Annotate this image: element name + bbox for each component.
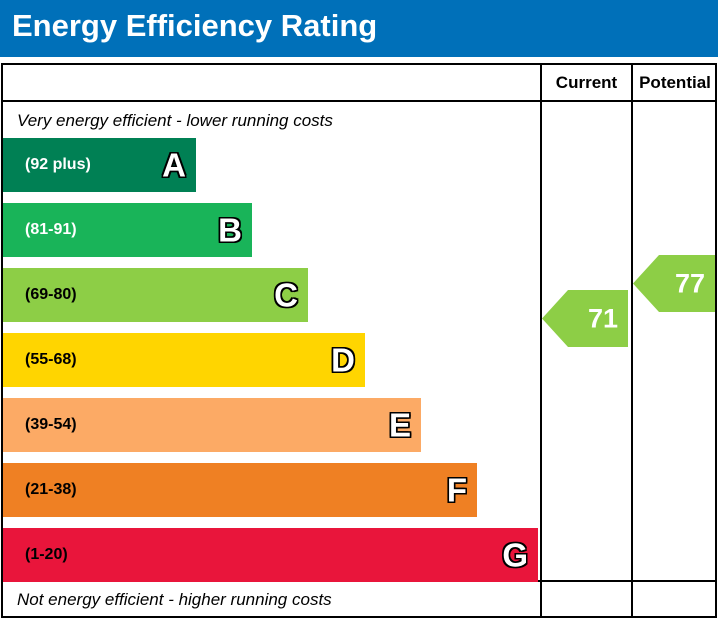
band-g-range: (1-20) bbox=[25, 546, 68, 564]
current-rating-value: 71 bbox=[588, 305, 618, 332]
band-g-grade: G bbox=[502, 539, 528, 572]
potential-column-header: Potential bbox=[633, 73, 717, 93]
band-e: (39-54) E bbox=[3, 398, 421, 452]
epc-chart: Energy Efficiency Rating Current Potenti… bbox=[0, 0, 718, 619]
band-c-grade: C bbox=[274, 279, 298, 312]
band-a: (92 plus) A bbox=[3, 138, 196, 192]
title-bar: Energy Efficiency Rating bbox=[0, 0, 718, 57]
band-c-range: (69-80) bbox=[25, 286, 77, 304]
band-b-grade: B bbox=[218, 214, 242, 247]
band-d-range: (55-68) bbox=[25, 351, 77, 369]
potential-rating-value: 77 bbox=[675, 270, 705, 297]
page-title: Energy Efficiency Rating bbox=[12, 8, 377, 44]
current-column-header: Current bbox=[542, 73, 631, 93]
band-e-grade: E bbox=[389, 409, 411, 442]
potential-column-divider bbox=[631, 63, 633, 618]
band-b-range: (81-91) bbox=[25, 221, 77, 239]
caption-bottom: Not energy efficient - higher running co… bbox=[17, 590, 332, 610]
band-g: (1-20) G bbox=[3, 528, 538, 582]
current-rating-arrow: 71 bbox=[542, 290, 628, 347]
band-a-grade: A bbox=[162, 149, 186, 182]
band-c: (69-80) C bbox=[3, 268, 308, 322]
band-f-range: (21-38) bbox=[25, 481, 77, 499]
band-d: (55-68) D bbox=[3, 333, 365, 387]
potential-rating-arrow: 77 bbox=[633, 255, 715, 312]
band-e-range: (39-54) bbox=[25, 416, 77, 434]
header-divider bbox=[1, 100, 717, 102]
band-d-grade: D bbox=[331, 344, 355, 377]
band-a-range: (92 plus) bbox=[25, 156, 91, 174]
band-f: (21-38) F bbox=[3, 463, 477, 517]
band-f-grade: F bbox=[447, 474, 467, 507]
band-b: (81-91) B bbox=[3, 203, 252, 257]
caption-top: Very energy efficient - lower running co… bbox=[17, 111, 333, 131]
